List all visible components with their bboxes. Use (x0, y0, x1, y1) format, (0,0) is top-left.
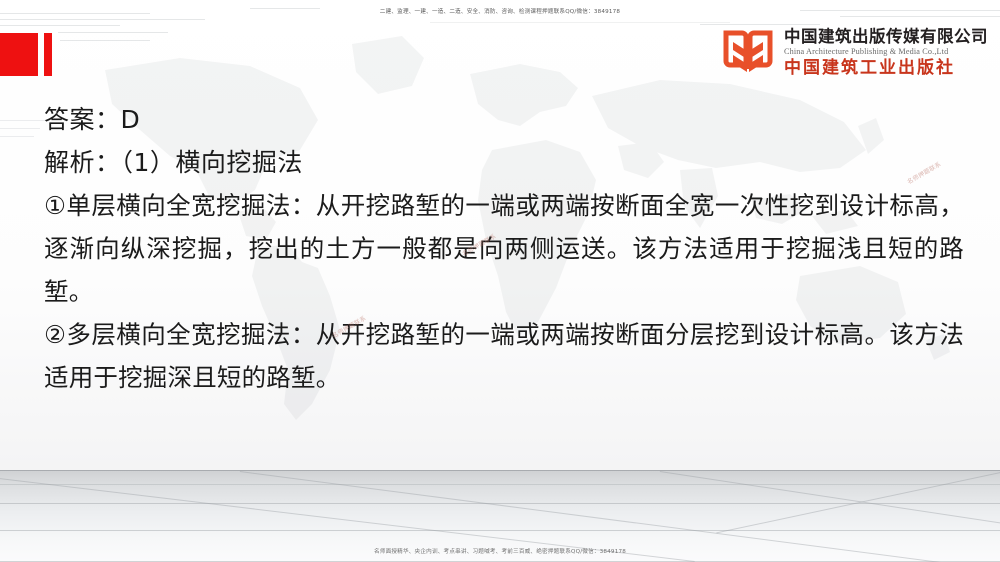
floor-horizon-line (0, 470, 1000, 471)
texture-hairline (700, 24, 820, 25)
texture-hairline (0, 120, 46, 121)
texture-hairline (430, 22, 730, 23)
header-promo-caption: 二建、监理、一建、一造、二造、安全、消防、咨询、检测课程押题联系QQ/微信：38… (0, 7, 1000, 15)
texture-hairline (0, 136, 34, 137)
footer-promo-caption: 名师面授精华、央企内训、考点串讲、习题喊考、考前三百威、绝密押题联系QQ/微信：… (0, 547, 1000, 555)
explanation-paragraph-2: ②多层横向全宽挖掘法：从开挖路堑的一端或两端按断面分层挖到设计标高。该方法适用于… (44, 313, 964, 399)
publisher-imprint-cn: 中国建筑工业出版社 (784, 60, 988, 77)
publisher-logo: 中国建筑出版传媒有限公司 China Architecture Publishi… (722, 27, 988, 79)
texture-hairline (0, 19, 205, 20)
open-book-logo-icon (722, 27, 774, 79)
explanation-paragraph-1: ①单层横向全宽挖掘法：从开挖路堑的一端或两端按断面全宽一次性挖到设计标高，逐渐向… (44, 184, 964, 313)
publisher-name-en: China Architecture Publishing & Media Co… (784, 48, 988, 56)
floor-grid-line-h (0, 484, 1000, 485)
analysis-line: 解析：（1）横向挖掘法 (44, 141, 964, 184)
answer-line: 答案：D (44, 98, 964, 141)
slide-body: 答案：D 解析：（1）横向挖掘法 ①单层横向全宽挖掘法：从开挖路堑的一端或两端按… (44, 98, 964, 399)
publisher-logo-text: 中国建筑出版传媒有限公司 China Architecture Publishi… (784, 29, 988, 78)
texture-hairline (58, 32, 168, 33)
texture-hairline (60, 40, 150, 41)
slide-canvas: 二建、监理、一建、一造、二造、安全、消防、咨询、检测课程押题联系QQ/微信：38… (0, 0, 1000, 562)
texture-hairline (0, 128, 40, 129)
floor-grid-line-h (0, 530, 1000, 531)
publisher-name-cn: 中国建筑出版传媒有限公司 (784, 29, 988, 46)
texture-hairline (0, 25, 120, 26)
red-square-mark (0, 33, 38, 76)
texture-hairline (840, 16, 1000, 17)
red-bar-mark (44, 33, 52, 76)
